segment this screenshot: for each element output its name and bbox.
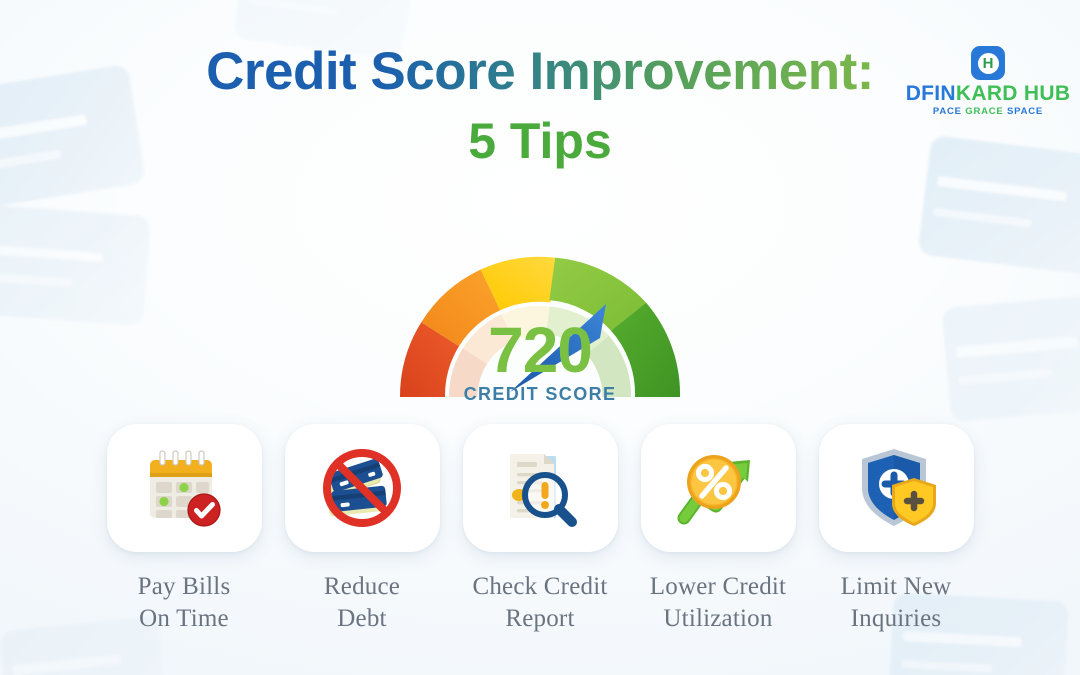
tip-item[interactable]: Pay Bills On Time: [107, 424, 262, 634]
logo-tagline-3: SPACE: [1007, 106, 1043, 117]
document-magnifier-icon: [492, 440, 588, 536]
credit-card-watermark-icon: [0, 204, 151, 326]
logo-word-part-1: DFIN: [906, 82, 956, 105]
tip-icon-card[interactable]: [107, 424, 262, 552]
page-title: Credit Score Improvement:: [206, 44, 874, 100]
tip-icon-card[interactable]: [285, 424, 440, 552]
percent-coin-arrow-icon: [670, 440, 766, 536]
tip-label-line-1: Reduce: [324, 573, 400, 600]
logo-tagline-1: PACE: [933, 106, 962, 117]
logo-letter: H: [978, 53, 999, 74]
tip-label-line-2: Inquiries: [851, 605, 942, 632]
tip-label-line-1: Check Credit: [472, 573, 607, 600]
tip-label: Pay Bills On Time: [138, 571, 231, 634]
calendar-check-icon: [136, 440, 232, 536]
tip-label-line-1: Limit New: [841, 573, 952, 600]
gauge-readout: 720 CREDIT SCORE: [375, 318, 705, 405]
tip-icon-card[interactable]: [463, 424, 618, 552]
tip-label: Lower Credit Utilization: [650, 571, 786, 634]
brand-logo: H DFINKARD HUB PACE GRACE SPACE: [900, 46, 1076, 117]
tip-label: Check Credit Report: [472, 571, 607, 634]
credit-score-gauge: 720 CREDIT SCORE: [375, 232, 705, 418]
tip-icon-card[interactable]: [641, 424, 796, 552]
tip-icon-card[interactable]: [819, 424, 974, 552]
tips-row: Pay Bills On Time: [0, 424, 1080, 634]
logo-tagline: PACE GRACE SPACE: [900, 106, 1076, 117]
logo-word-part-3: HUB: [1024, 82, 1070, 105]
tip-label-line-2: Report: [505, 605, 574, 632]
tip-item[interactable]: Limit New Inquiries: [819, 424, 974, 634]
tip-item[interactable]: Check Credit Report: [463, 424, 618, 634]
tip-label: Limit New Inquiries: [841, 571, 952, 634]
tip-label-line-2: Debt: [337, 605, 386, 632]
page-subtitle: 5 Tips: [0, 116, 1080, 166]
logo-badge-icon: H: [971, 46, 1005, 80]
logo-wordmark: DFINKARD HUB: [900, 83, 1076, 104]
credit-score-value: 720: [375, 318, 705, 382]
tip-label-line-2: Utilization: [663, 605, 772, 632]
shield-plus-icon: [848, 440, 944, 536]
logo-word-part-2: KARD: [956, 82, 1018, 105]
tip-label-line-2: On Time: [139, 605, 229, 632]
logo-tagline-2: GRACE: [965, 106, 1003, 117]
no-credit-cards-icon: [314, 440, 410, 536]
credit-score-caption: CREDIT SCORE: [375, 384, 705, 405]
tip-label-line-1: Pay Bills: [138, 573, 231, 600]
tip-item[interactable]: Lower Credit Utilization: [641, 424, 796, 634]
infographic-canvas: Credit Score Improvement: 5 Tips H DFINK…: [0, 0, 1080, 675]
tip-item[interactable]: Reduce Debt: [285, 424, 440, 634]
tip-label-line-1: Lower Credit: [650, 573, 786, 600]
credit-card-watermark-icon: [941, 292, 1080, 422]
tip-label: Reduce Debt: [324, 571, 400, 634]
